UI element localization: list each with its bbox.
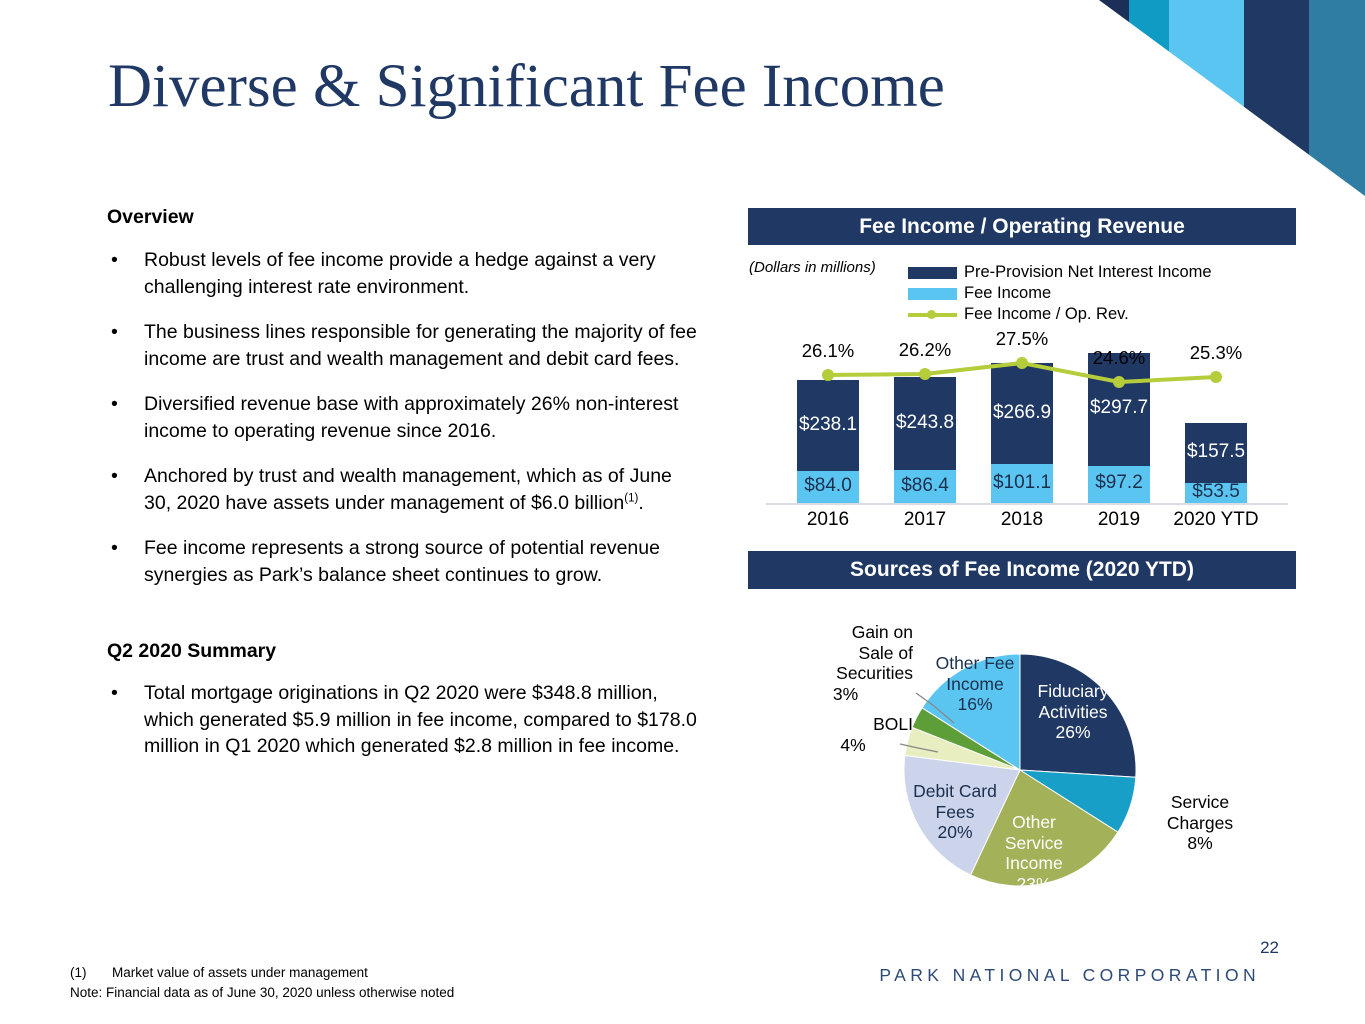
pie-label-service-charges: Service Charges 8% bbox=[1146, 792, 1254, 854]
pie-chart-header: Sources of Fee Income (2020 YTD) bbox=[748, 551, 1296, 589]
bullet-icon: • bbox=[111, 391, 118, 418]
overview-heading: Overview bbox=[107, 206, 697, 229]
bullet-icon: • bbox=[111, 319, 118, 346]
ratio-marker bbox=[1210, 371, 1222, 383]
stripe-5 bbox=[1309, 0, 1365, 196]
stripe-4 bbox=[1244, 0, 1309, 196]
list-item: • The business lines responsible for gen… bbox=[107, 319, 697, 372]
list-item: • Diversified revenue base with approxim… bbox=[107, 391, 697, 444]
list-item-text: Diversified revenue base with approximat… bbox=[144, 393, 678, 442]
footnote-marker: (1) bbox=[624, 492, 638, 504]
pie-label-gain-on-sale: Gain on Sale of Securities 3% bbox=[778, 622, 913, 704]
list-item: • Robust levels of fee income provide a … bbox=[107, 247, 697, 300]
list-item-text: Total mortgage originations in Q2 2020 w… bbox=[144, 682, 697, 757]
ratio-marker bbox=[1016, 357, 1028, 369]
list-item-text: Anchored by trust and wealth management,… bbox=[144, 465, 672, 514]
bar-chart-header: Fee Income / Operating Revenue bbox=[748, 208, 1296, 245]
footnote-number: (1) bbox=[70, 963, 112, 983]
footnote-text: Market value of assets under management bbox=[112, 965, 368, 980]
stripe-2 bbox=[1129, 0, 1169, 196]
list-item: • Fee income represents a strong source … bbox=[107, 535, 697, 588]
pie-label-debit-card-fees: Debit Card Fees 20% bbox=[896, 781, 1014, 843]
stripe-3 bbox=[1169, 0, 1244, 196]
ratio-marker bbox=[1113, 376, 1125, 388]
ratio-marker bbox=[919, 368, 931, 380]
page-title: Diverse & Significant Fee Income bbox=[108, 52, 945, 122]
list-item: • Total mortgage originations in Q2 2020… bbox=[107, 680, 697, 760]
note-row: Note: Financial data as of June 30, 2020… bbox=[70, 983, 454, 1003]
bullet-icon: • bbox=[111, 463, 118, 490]
list-item-text: Robust levels of fee income provide a he… bbox=[144, 249, 656, 298]
pie-label-other-fee-income: Other Fee Income 16% bbox=[920, 653, 1030, 715]
slide: Diverse & Significant Fee Income Overvie… bbox=[0, 0, 1365, 1024]
ratio-marker bbox=[822, 369, 834, 381]
bullet-icon: • bbox=[111, 247, 118, 274]
list-item-aum: • Anchored by trust and wealth managemen… bbox=[107, 463, 697, 516]
pie-label-boli: BOLI 4% bbox=[793, 714, 913, 755]
corner-stripe-decoration bbox=[1099, 0, 1365, 196]
bullet-icon: • bbox=[111, 535, 118, 562]
list-item-text: Fee income represents a strong source of… bbox=[144, 537, 660, 586]
summary-heading: Q2 2020 Summary bbox=[107, 640, 697, 663]
pie-chart: Gain on Sale of Securities 3% BOLI 4% Ot… bbox=[748, 596, 1296, 926]
page-number: 22 bbox=[1260, 938, 1279, 958]
left-content-column: Overview • Robust levels of fee income p… bbox=[107, 206, 697, 779]
company-name: PARK NATIONAL CORPORATION bbox=[879, 965, 1260, 986]
bullet-icon: • bbox=[111, 680, 118, 707]
footnote-row: (1)Market value of assets under manageme… bbox=[70, 963, 454, 983]
list-item-text-tail: . bbox=[638, 492, 643, 514]
bar-plot-region: $238.1$84.0201626.1%$243.8$86.4201726.2%… bbox=[748, 250, 1296, 545]
stripe-1 bbox=[1099, 0, 1129, 196]
pie-label-fiduciary-activities: Fiduciary Activities 26% bbox=[1018, 681, 1128, 743]
ratio-line-svg bbox=[748, 250, 1296, 545]
footnote-block: (1)Market value of assets under manageme… bbox=[70, 963, 454, 1003]
bar-chart: (Dollars in millions) Pre-Provision Net … bbox=[748, 250, 1296, 545]
list-item-text: The business lines responsible for gener… bbox=[144, 321, 697, 370]
